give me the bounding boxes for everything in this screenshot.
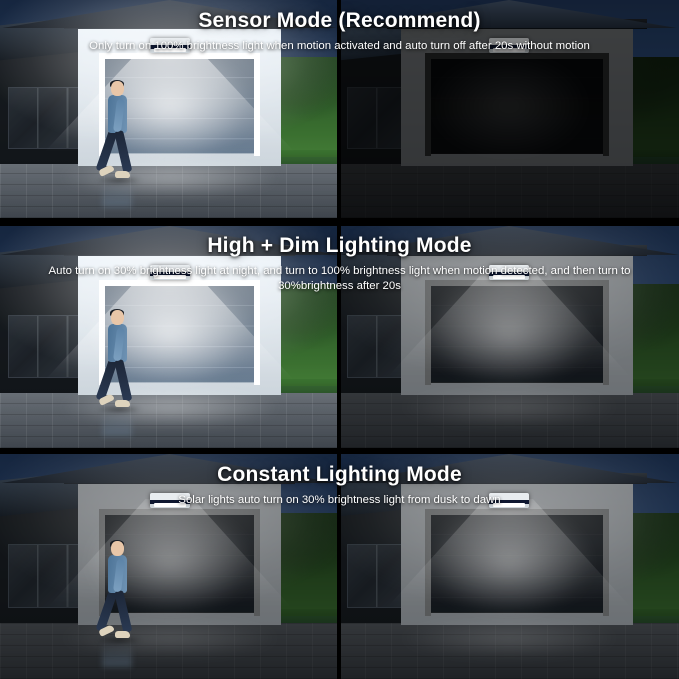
led-strip bbox=[493, 48, 525, 52]
person-reflection bbox=[102, 410, 132, 436]
person-shoe-front bbox=[115, 631, 130, 638]
walking-person bbox=[98, 310, 136, 410]
person-reflection bbox=[102, 181, 132, 207]
solar-light-icon bbox=[150, 265, 190, 280]
scene-high-dim-right bbox=[339, 226, 679, 448]
person-leg-front bbox=[114, 359, 132, 402]
panel-divider bbox=[0, 448, 679, 454]
solar-light-icon bbox=[489, 38, 529, 53]
scene-sensor-mode-right bbox=[339, 0, 679, 218]
led-strip bbox=[493, 503, 525, 507]
person-head bbox=[111, 541, 124, 556]
person-shoe-front bbox=[115, 400, 130, 407]
led-strip bbox=[154, 503, 186, 507]
scene-high-dim-left bbox=[0, 226, 339, 448]
scene-constant-right bbox=[339, 454, 679, 679]
led-strip bbox=[154, 48, 186, 52]
person-head bbox=[111, 310, 124, 325]
scene-constant-left bbox=[0, 454, 339, 679]
person-leg-front bbox=[114, 590, 132, 633]
scene-sensor-mode-left bbox=[0, 0, 339, 218]
walking-person bbox=[98, 541, 136, 641]
walking-person bbox=[98, 81, 136, 181]
solar-light-icon bbox=[489, 265, 529, 280]
led-strip bbox=[154, 275, 186, 279]
lighting-modes-infographic: Sensor Mode (Recommend) Only turn on 100… bbox=[0, 0, 679, 679]
person-head bbox=[111, 81, 124, 96]
person-shoe-front bbox=[115, 171, 130, 178]
person-leg-front bbox=[114, 130, 132, 173]
solar-light-icon bbox=[150, 38, 190, 53]
person-reflection bbox=[102, 641, 132, 667]
led-strip bbox=[493, 275, 525, 279]
solar-light-icon bbox=[150, 493, 190, 508]
panel-divider bbox=[0, 218, 679, 226]
solar-light-icon bbox=[489, 493, 529, 508]
scene-split-divider bbox=[337, 0, 341, 679]
